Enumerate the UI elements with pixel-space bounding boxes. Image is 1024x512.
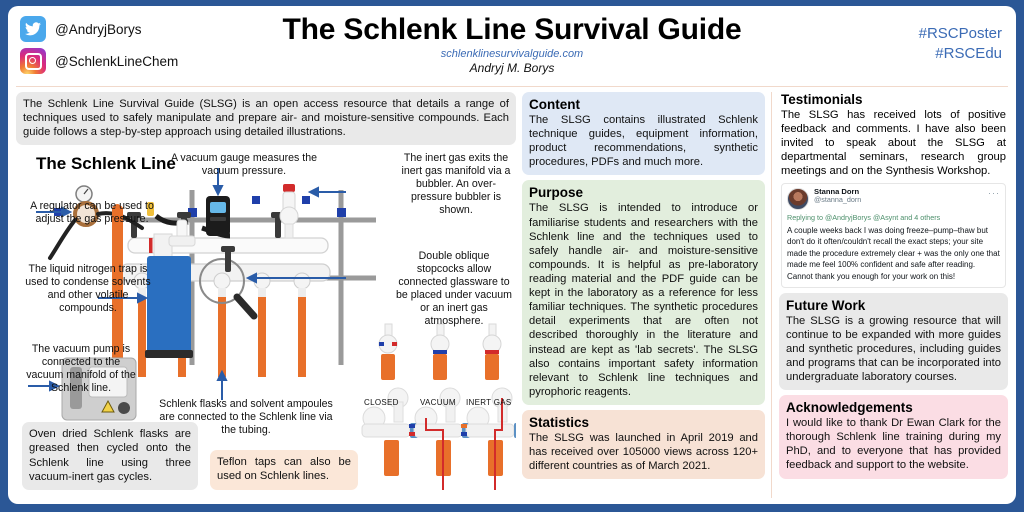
tweet-header: Stanna Dorn @stanna_dorn ··· — [787, 188, 1000, 210]
future-work-heading: Future Work — [786, 298, 1001, 313]
poster-sheet: @AndryjBorys @SchlenkLineChem The Schlen… — [8, 6, 1016, 504]
content-card-heading: Content — [529, 97, 758, 112]
purpose-card: Purpose The SLSG is intended to introduc… — [522, 180, 765, 405]
lead-paragraph-card: The Schlenk Line Survival Guide (SLSG) i… — [16, 92, 516, 145]
tweet-card[interactable]: Stanna Dorn @stanna_dorn ··· Replying to… — [781, 183, 1006, 288]
acknowledgements-card: Acknowledgements I would like to thank D… — [779, 395, 1008, 478]
hashtag-rscposter[interactable]: #RSCPoster — [919, 24, 1002, 44]
annotation-nitrogen-trap: The liquid nitrogen trap is used to cond… — [18, 263, 158, 315]
purpose-card-text: The SLSG is intended to introduce or fam… — [529, 201, 758, 399]
social-handles: @AndryjBorys @SchlenkLineChem — [20, 16, 178, 80]
twitter-icon — [20, 16, 46, 42]
hashtag-list: #RSCPoster #RSCEdu — [919, 24, 1002, 65]
content-card: Content The SLSG contains illustrated Sc… — [522, 92, 765, 175]
social-row-instagram[interactable]: @SchlenkLineChem — [20, 48, 178, 74]
avatar — [787, 188, 809, 210]
twitter-handle: @AndryjBorys — [55, 22, 141, 37]
content-card-text: The SLSG contains illustrated Schlenk te… — [529, 113, 758, 169]
note-teflon-card: Teflon taps can also be used on Schlenk … — [210, 450, 358, 489]
ellipsis-icon[interactable]: ··· — [988, 188, 1000, 198]
poster-body: The Schlenk Line Survival Guide (SLSG) i… — [16, 87, 1008, 498]
poster-root: @AndryjBorys @SchlenkLineChem The Schlen… — [0, 0, 1024, 512]
statistics-card-text: The SLSG was launched in April 2019 and … — [529, 431, 758, 473]
annotation-vacuum-gauge: A vacuum gauge measures the vacuum press… — [164, 152, 324, 178]
schlenk-line-diagram: The Schlenk Line — [16, 150, 516, 498]
right-column: Testimonials The SLSG has received lots … — [771, 92, 1008, 498]
social-row-twitter[interactable]: @AndryjBorys — [20, 16, 178, 42]
leader-arrow-flasks — [218, 372, 226, 400]
future-work-text: The SLSG is a growing resource that will… — [786, 314, 1001, 385]
annotation-regulator: A regulator can be used to adjust the ga… — [22, 200, 162, 226]
instagram-icon — [20, 48, 46, 74]
testimonials-card: Testimonials The SLSG has received lots … — [779, 92, 1008, 288]
note-oven-dried-card: Oven dried Schlenk flasks are greased th… — [22, 422, 198, 489]
tweet-reply-line: Replying to @AndryjBorys @Asynt and 4 ot… — [787, 213, 1000, 222]
tweet-handle: @stanna_dorn — [814, 196, 988, 204]
annotation-vacuum-pump: The vacuum pump is connected to the vacu… — [22, 343, 140, 395]
instagram-handle: @SchlenkLineChem — [55, 54, 178, 69]
flask-label-inert-gas: INERT GAS — [466, 398, 512, 407]
tweet-body: A couple weeks back I was doing freeze–p… — [787, 225, 1000, 283]
lead-paragraph-text: The Schlenk Line Survival Guide (SLSG) i… — [23, 97, 509, 139]
middle-column: Content The SLSG contains illustrated Sc… — [522, 92, 765, 498]
statistics-card: Statistics The SLSG was launched in Apri… — [522, 410, 765, 479]
statistics-card-heading: Statistics — [529, 415, 758, 430]
annotation-stopcocks: Double oblique stopcocks allow connected… — [394, 250, 514, 328]
acknowledgements-text: I would like to thank Dr Ewan Clark for … — [786, 416, 1001, 472]
future-work-card: Future Work The SLSG is a growing resour… — [779, 293, 1008, 391]
testimonials-heading: Testimonials — [781, 92, 1008, 107]
left-column: The Schlenk Line Survival Guide (SLSG) i… — [16, 92, 516, 498]
testimonials-text: The SLSG has received lots of positive f… — [781, 108, 1006, 179]
note-teflon-text: Teflon taps can also be used on Schlenk … — [217, 455, 351, 483]
purpose-card-heading: Purpose — [529, 185, 758, 200]
flask-label-closed: CLOSED — [364, 398, 399, 407]
acknowledgements-heading: Acknowledgements — [786, 400, 1001, 415]
flask-label-vacuum: VACUUM — [420, 398, 456, 407]
hashtag-rscedu[interactable]: #RSCEdu — [919, 44, 1002, 64]
note-oven-dried-text: Oven dried Schlenk flasks are greased th… — [29, 427, 191, 483]
annotation-bubbler: The inert gas exits the inert gas manifo… — [401, 152, 511, 217]
poster-header: @AndryjBorys @SchlenkLineChem The Schlen… — [16, 12, 1008, 87]
